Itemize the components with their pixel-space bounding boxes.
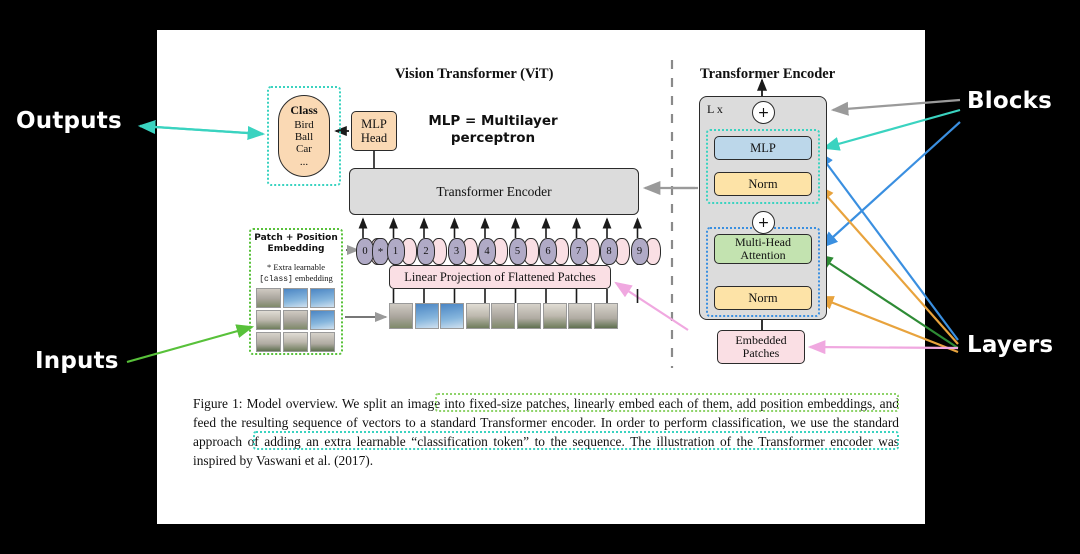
class-item-ball: Ball <box>295 131 313 143</box>
input-patch-thumb <box>283 288 308 308</box>
input-patch-thumb <box>310 332 335 352</box>
token-position-index: 8 <box>600 238 618 265</box>
input-patch-thumb <box>310 288 335 308</box>
encoder-norm-top-block: Norm <box>714 172 812 196</box>
residual-add-mid: + <box>752 211 775 234</box>
encoder-repeat-label: L x <box>707 102 723 117</box>
encoder-norm-bottom-block: Norm <box>714 286 812 310</box>
flattened-patch-thumb <box>491 303 515 329</box>
note-line2: embedding <box>295 273 333 283</box>
input-patch-thumb <box>310 310 335 330</box>
annotation-layers: Layers <box>967 332 1053 358</box>
token-1: 1 <box>387 238 415 263</box>
note-star: * <box>267 262 271 272</box>
note-line1: Extra learnable <box>273 262 325 272</box>
flattened-patch-thumb <box>440 303 464 329</box>
screenshot-root: Vision Transformer (ViT) Transformer Enc… <box>0 0 1080 554</box>
caption-highlight-green <box>435 393 899 412</box>
token-7: 7 <box>570 238 598 263</box>
class-heading: Class <box>290 104 317 117</box>
input-patch-thumb <box>256 332 281 352</box>
input-patch-thumb <box>283 332 308 352</box>
flattened-patch-thumb <box>466 303 490 329</box>
token-0: 0* <box>356 238 390 263</box>
flattened-patch-thumb <box>415 303 439 329</box>
token-position-index: 5 <box>509 238 527 265</box>
class-item-car: Car <box>296 143 312 155</box>
mlp-legend-text: MLP = Multilayer perceptron <box>413 113 573 147</box>
note-mono: [class] <box>259 275 293 284</box>
flattened-patch-thumb <box>389 303 413 329</box>
patch-position-note: * Extra learnable [class] embedding <box>254 262 338 285</box>
linear-projection-bar: Linear Projection of Flattened Patches <box>389 265 611 289</box>
class-item-ellipsis: ... <box>300 156 308 168</box>
embedded-line1: Embedded <box>735 334 786 347</box>
token-6: 6 <box>539 238 567 263</box>
token-3: 3 <box>448 238 476 263</box>
flattened-patch-thumb <box>517 303 541 329</box>
token-5: 5 <box>509 238 537 263</box>
mlp-head-box: MLP Head <box>351 111 397 151</box>
class-item-bird: Bird <box>294 119 314 131</box>
transformer-encoder-bar: Transformer Encoder <box>349 168 639 215</box>
flattened-patch-thumb <box>543 303 567 329</box>
encoder-multihead-attention-block: Multi-Head Attention <box>714 234 812 264</box>
vit-title: Vision Transformer (ViT) <box>395 66 553 83</box>
input-patch-grid <box>256 288 336 352</box>
mha-line2: Attention <box>740 249 785 262</box>
token-4: 4 <box>478 238 506 263</box>
caption-highlight-teal <box>253 431 899 450</box>
embedded-line2: Patches <box>743 347 780 360</box>
encoder-title: Transformer Encoder <box>700 66 835 83</box>
annotation-inputs: Inputs <box>35 348 119 374</box>
annotation-outputs: Outputs <box>16 108 122 134</box>
token-position-index: 4 <box>478 238 496 265</box>
flattened-patch-thumb <box>594 303 618 329</box>
token-2: 2 <box>417 238 445 263</box>
encoder-mlp-block: MLP <box>714 136 812 160</box>
mlp-head-line2: Head <box>361 131 387 145</box>
token-position-index: 1 <box>387 238 405 265</box>
flattened-patch-thumb <box>568 303 592 329</box>
class-output-box: Class Bird Ball Car ... <box>278 95 330 177</box>
token-8: 8 <box>600 238 628 263</box>
input-patch-thumb <box>283 310 308 330</box>
token-position-index: 3 <box>448 238 466 265</box>
token-position-index: 2 <box>417 238 435 265</box>
token-position-index: 6 <box>539 238 557 265</box>
embedded-patches-box: Embedded Patches <box>717 330 805 364</box>
token-9: 9 <box>631 238 659 263</box>
residual-add-top: + <box>752 101 775 124</box>
mlp-head-line1: MLP <box>361 117 387 131</box>
patch-position-title: Patch + Position Embedding <box>254 233 338 256</box>
mha-line1: Multi-Head <box>735 236 791 249</box>
input-patch-thumb <box>256 288 281 308</box>
flattened-patch-strip <box>389 303 619 330</box>
token-position-index: 9 <box>631 238 649 265</box>
annotation-blocks: Blocks <box>967 88 1052 114</box>
token-position-index: 7 <box>570 238 588 265</box>
input-patch-thumb <box>256 310 281 330</box>
